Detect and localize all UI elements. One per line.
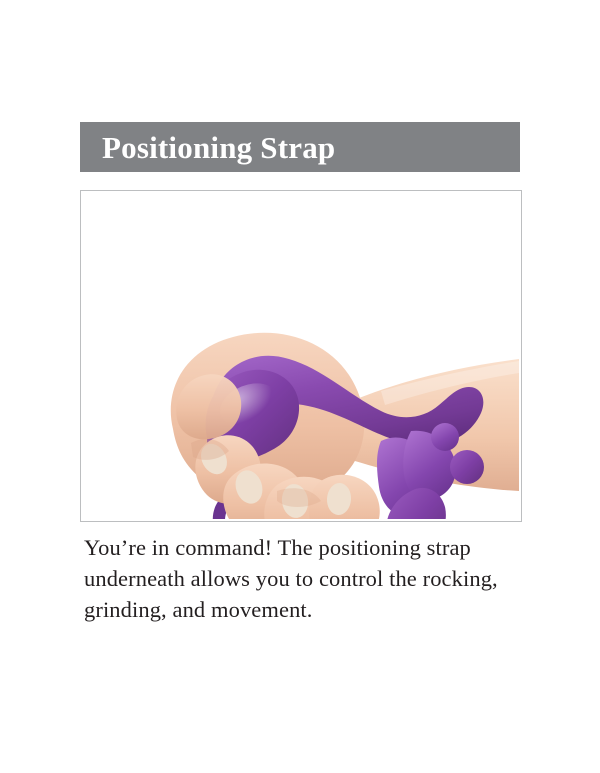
title-banner: Positioning Strap	[80, 122, 520, 172]
document-page: Positioning Strap	[0, 0, 600, 773]
caption-text: You’re in command! The positioning strap…	[84, 532, 524, 625]
product-image-frame	[80, 190, 522, 522]
product-photo-illustration	[81, 191, 519, 519]
page-title: Positioning Strap	[80, 132, 335, 163]
product-photo	[81, 191, 521, 521]
